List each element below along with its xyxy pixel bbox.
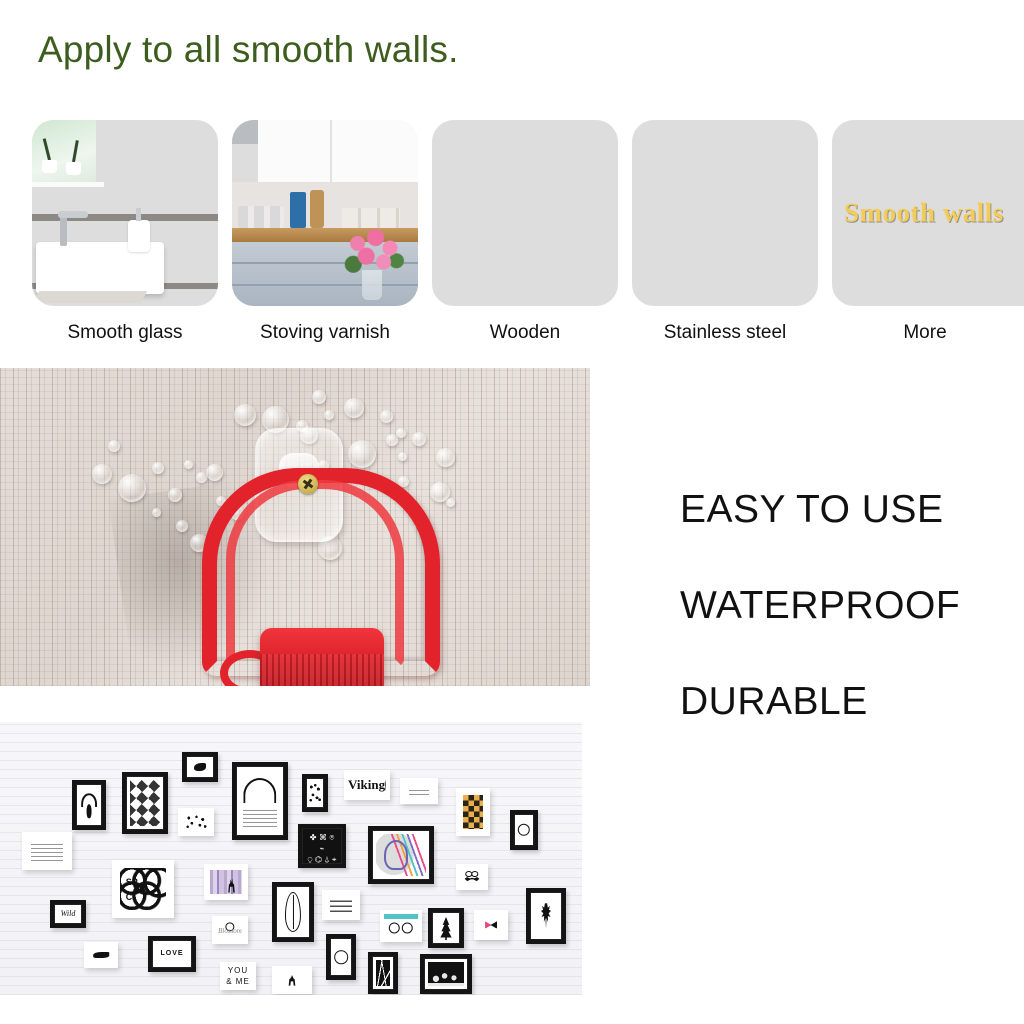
water-droplet [118,474,146,502]
kitchen-photo-icon [232,120,418,306]
frame-speckle [178,808,214,836]
navy-panel-icon: Smooth walls [832,120,1024,306]
frame-leaf [272,882,314,942]
frame-bird [182,752,218,782]
frame-diamond-pattern [122,772,168,834]
frame-forest-deer [204,864,248,900]
feature-durable: DURABLE [680,680,1010,724]
water-droplet [344,398,364,418]
frame-small-text [400,778,438,804]
water-droplet [386,434,398,446]
frame-barcode-text [322,890,360,920]
frame-night-scene [420,954,472,994]
smooth-walls-overlay-text: Smooth walls [844,198,1004,229]
frame-spider [526,888,566,944]
surface-types-row: Smooth glass Stoving varnish Wooden Stai… [32,120,1024,350]
page-title: Apply to all smooth walls. [38,30,459,71]
frame-spci99-logo: SPCI [112,860,174,918]
brushed-metal-texture-icon [632,120,818,306]
frame-circle-sketch [326,934,356,980]
frame-abstract-black [368,952,398,994]
water-droplet [380,410,393,423]
bathroom-photo-icon [32,120,218,306]
surface-item-stoving-varnish[interactable]: Stoving varnish [232,120,418,344]
water-droplet [312,390,326,404]
frame-pine-tree [428,908,464,948]
water-droplet [446,498,455,507]
surface-item-wooden[interactable]: Wooden [432,120,618,344]
frame-antler-quote [232,762,288,840]
water-droplet [398,452,407,461]
red-bottle-carrier [176,468,436,686]
frame-mustache-glasses [456,864,488,890]
surface-item-stainless-steel[interactable]: Stainless steel [632,120,818,344]
frame-handwriting [22,832,72,870]
frame-abstract-dots [302,774,328,812]
frame-whale [84,942,118,968]
frame-blossom-script: Blossom [212,916,248,944]
frame-you-and-me: YOU & ME [220,962,256,990]
frame-zebra [368,826,434,884]
water-droplet [348,440,376,468]
frame-bowtie [474,910,508,940]
surface-label: Stoving varnish [232,322,418,344]
water-droplet [152,462,164,474]
photo-frame-wall-icon: Viking ✤ ⌘ ⍟ ⌁⍜ ⌬ ⍙ ⌖⍝ ⌗ ⍡ ⌸⍤ ⌾ ⍠ ⌺ SPCI… [0,722,582,995]
surface-item-smooth-glass[interactable]: Smooth glass [32,120,218,344]
water-droplet [396,428,406,438]
surface-label: Stainless steel [632,322,818,344]
frame-clock [510,810,538,850]
surface-label: Wooden [432,322,618,344]
water-droplet [234,404,256,426]
water-droplet [92,464,112,484]
surface-label: Smooth glass [32,322,218,344]
frame-bicycle [380,910,422,942]
adhesive-hook-photo-icon [0,368,590,686]
water-droplet [412,432,426,446]
feature-waterproof: WATERPROOF [680,584,1010,628]
frame-small-deer [272,966,312,994]
water-droplet [108,440,120,452]
water-droplet [436,448,455,467]
gold-screw-icon [298,474,318,494]
frame-wild-script: Wild [50,900,86,928]
feature-easy-to-use: EASY TO USE [680,488,1010,532]
water-droplet [152,508,161,517]
frame-checkerboard [456,788,490,836]
wood-texture-icon [432,120,618,306]
frame-viking: Viking [344,770,390,800]
water-droplet [324,410,334,420]
frame-rune-alphabet: ✤ ⌘ ⍟ ⌁⍜ ⌬ ⍙ ⌖⍝ ⌗ ⍡ ⌸⍤ ⌾ ⍠ ⌺ [298,824,346,868]
surface-item-more[interactable]: Smooth walls More [832,120,1024,344]
feature-list: EASY TO USE WATERPROOF DURABLE [680,488,1010,776]
frame-love-arrows: LOVE [148,936,196,972]
frame-stag-head [72,780,106,830]
surface-label: More [832,322,1018,344]
